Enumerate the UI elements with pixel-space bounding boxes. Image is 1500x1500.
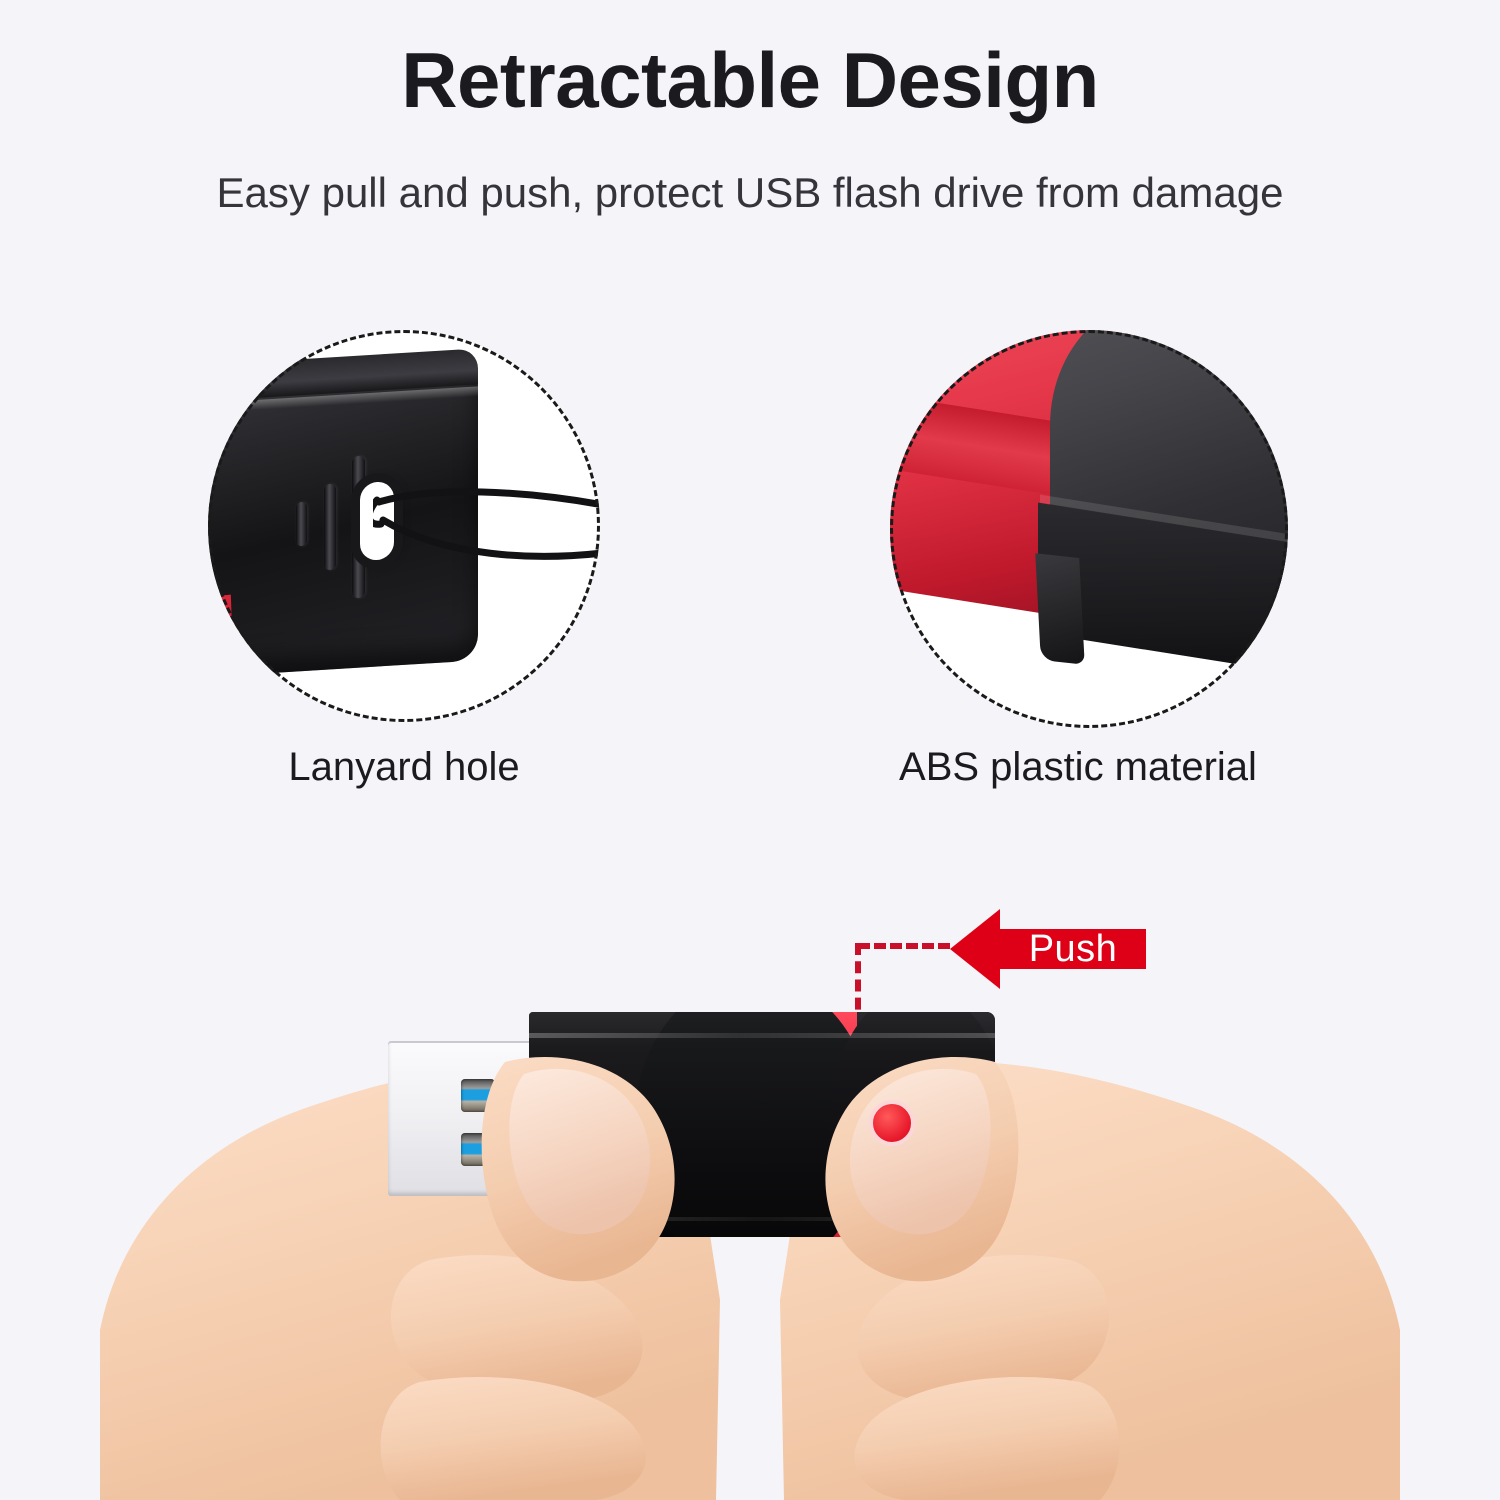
retract-slider-button[interactable] [869, 1100, 915, 1146]
infographic-page: Retractable Design Easy pull and push, p… [0, 0, 1500, 1500]
usb3-contact-block-2 [461, 1133, 495, 1166]
drive-bottom-rail [529, 1217, 995, 1221]
usb-a-connector [388, 1041, 536, 1196]
usb3-contact-block-1 [461, 1079, 495, 1112]
drive-top-rail [529, 1033, 995, 1038]
hands-illustration [0, 0, 1500, 1500]
usb-drive-body [529, 1012, 995, 1237]
product-photo [0, 0, 1500, 1500]
